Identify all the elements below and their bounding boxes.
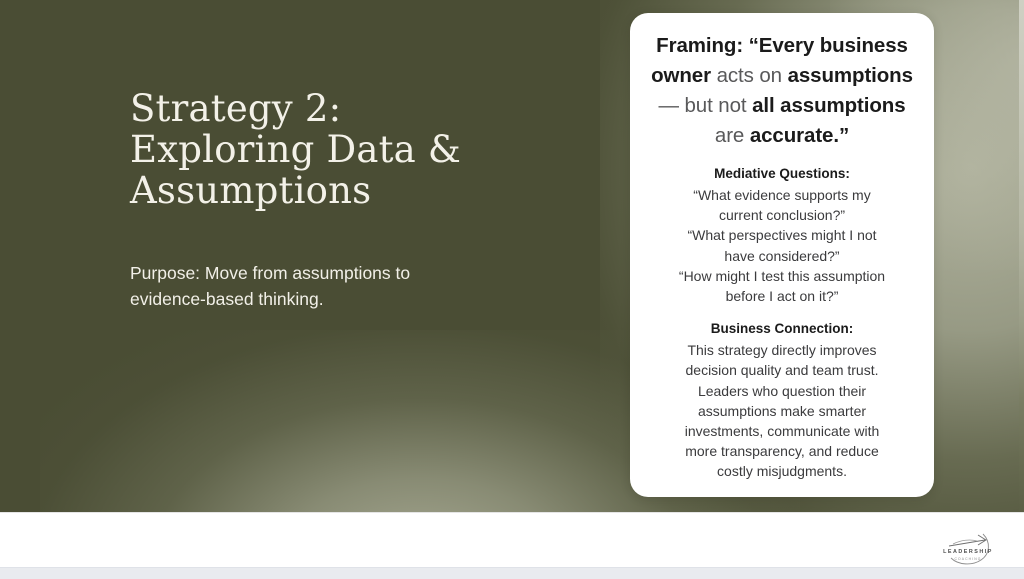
slide-purpose-text: Purpose: Move from assumptions to eviden…	[130, 260, 485, 312]
leadership-coaching-logo: LEADERSHIP COACHING	[937, 524, 999, 570]
text-line: This strategy directly improves	[650, 340, 914, 360]
text-line: before I act on it?”	[650, 286, 914, 306]
section-label-mediative-questions: Mediative Questions:	[650, 164, 914, 184]
text-line: more transparency, and reduce	[650, 441, 914, 461]
section-body-mediative-questions: “What evidence supports mycurrent conclu…	[650, 185, 914, 306]
heading-fragment: assumptions	[788, 64, 913, 87]
heading-fragment: accurate.”	[750, 124, 849, 147]
right-edge-highlight	[1019, 0, 1024, 512]
text-line: Leaders who question their	[650, 381, 914, 401]
text-line: investments, communicate with	[650, 421, 914, 441]
text-line: “How might I test this assumption	[650, 266, 914, 286]
bottom-band	[0, 567, 1024, 579]
logo-wordmark: LEADERSHIP	[937, 549, 999, 556]
section-label-business-connection: Business Connection:	[650, 319, 914, 339]
card-section-mediative-questions: Mediative Questions: “What evidence supp…	[650, 164, 914, 306]
text-line: have considered?”	[650, 246, 914, 266]
left-text-column: Strategy 2: Exploring Data & Assumptions…	[130, 88, 560, 211]
heading-fragment: — but not	[658, 94, 752, 117]
text-line: “What perspectives might I not	[650, 225, 914, 245]
text-line: decision quality and team trust.	[650, 360, 914, 380]
logo-arc-arrow-icon	[937, 524, 999, 570]
heading-fragment: acts on	[711, 64, 788, 87]
section-body-business-connection: This strategy directly improvesdecision …	[650, 340, 914, 481]
slide-root: Strategy 2: Exploring Data & Assumptions…	[0, 0, 1024, 579]
slide-title: Strategy 2: Exploring Data & Assumptions	[130, 88, 560, 211]
card-section-business-connection: Business Connection: This strategy direc…	[650, 319, 914, 481]
footer-divider	[0, 512, 1024, 513]
heading-fragment: are	[715, 124, 750, 147]
text-line: costly misjudgments.	[650, 461, 914, 481]
text-line: current conclusion?”	[650, 205, 914, 225]
card-heading: Framing: “Every business owner acts on a…	[650, 31, 914, 151]
logo-subwordmark: COACHING	[937, 557, 999, 562]
text-line: “What evidence supports my	[650, 185, 914, 205]
text-line: assumptions make smarter	[650, 401, 914, 421]
heading-fragment: all assumptions	[752, 94, 905, 117]
slide-footer	[0, 512, 1024, 567]
framing-card: Framing: “Every business owner acts on a…	[630, 13, 934, 497]
